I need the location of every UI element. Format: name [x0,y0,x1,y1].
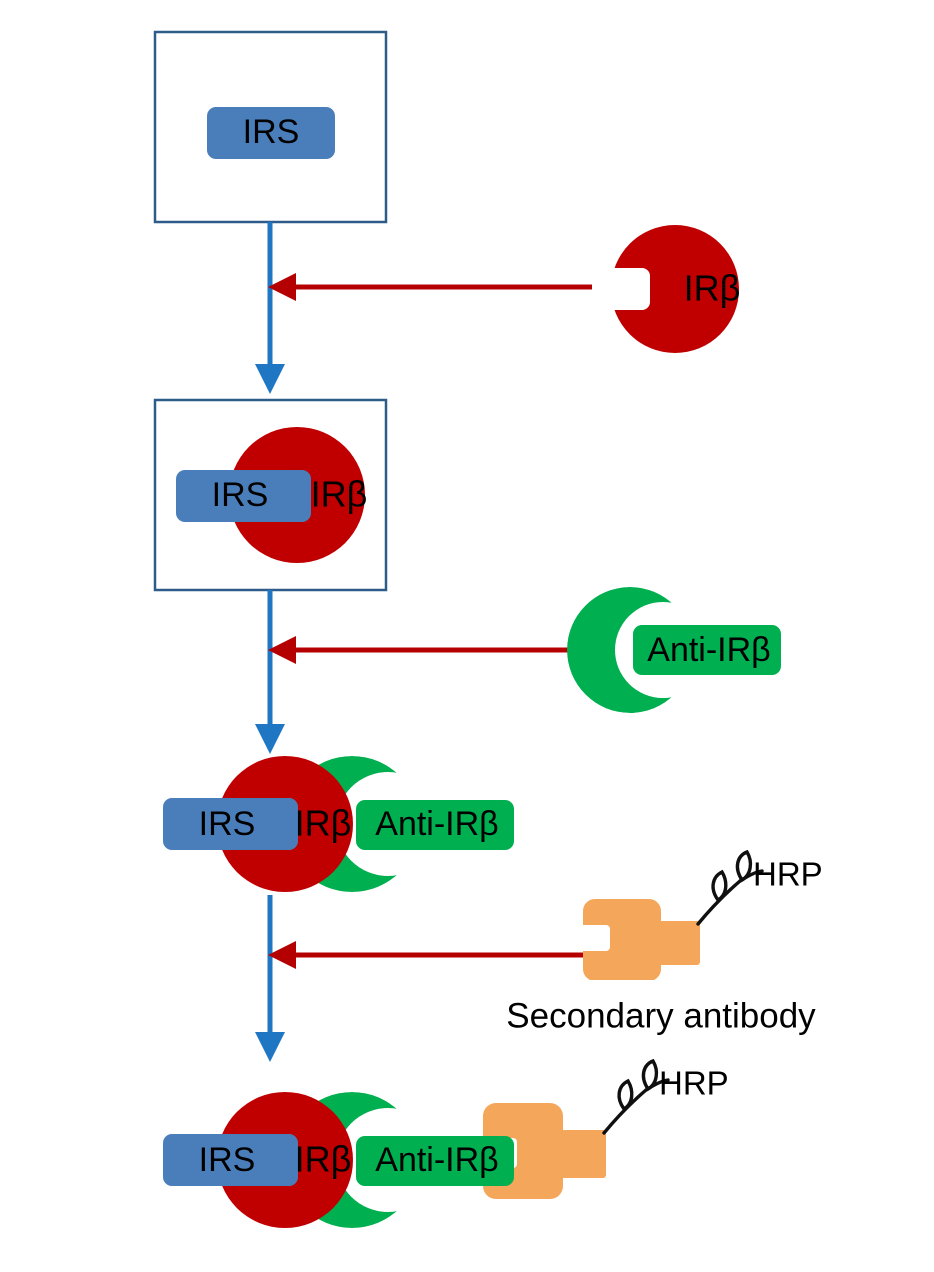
reagent-anti-irb: Anti-IRβ [567,587,781,713]
elisa-diagram: IRS IRβ IRS IRβ Anti-IRβ [0,0,934,1272]
step-1-irs-coated-well: IRS [155,32,386,222]
add-secondary-arrow [268,941,585,969]
irb-label-step4: IRβ [295,1139,352,1180]
flow-arrow-3 [255,895,285,1062]
reagent-irb: IRβ [611,225,740,353]
secondary-antibody-stem-step4 [550,1130,606,1178]
secondary-antibody-stem-reagent [648,921,700,965]
irs-label-step1: IRS [243,113,300,151]
anti-irb-label-step3: Anti-IRβ [375,805,498,843]
secondary-antibody-caption: Secondary antibody [506,996,816,1035]
flow-arrow-2 [255,590,285,754]
anti-irb-label-step4: Anti-IRβ [375,1141,498,1179]
flow-arrow-1 [255,222,285,394]
hrp-label-step4: HRP [659,1065,729,1102]
hrp-label-reagent: HRP [753,856,823,893]
irb-label-step2: IRβ [311,474,368,515]
diagram-canvas: IRS IRβ IRS IRβ Anti-IRβ [0,0,934,1272]
irs-label-step3: IRS [199,805,256,843]
irs-label-step2: IRS [212,476,269,514]
reagent-secondary-antibody: HRP Secondary antibody [506,852,822,1035]
irb-label-reagent: IRβ [684,268,741,309]
irs-label-step4: IRS [199,1141,256,1179]
irb-label-step3: IRβ [295,803,352,844]
anti-irb-label-reagent: Anti-IRβ [647,631,770,669]
step-3-irs-irb-antibody-complex: IRS IRβ Anti-IRβ [163,756,514,892]
step-2-irs-irb-complex-well: IRS IRβ [155,400,386,590]
add-anti-irb-arrow [268,636,592,664]
add-irb-arrow [268,273,592,301]
step-4-full-sandwich-complex: IRS IRβ Anti-IRβ HRP [163,1061,729,1228]
